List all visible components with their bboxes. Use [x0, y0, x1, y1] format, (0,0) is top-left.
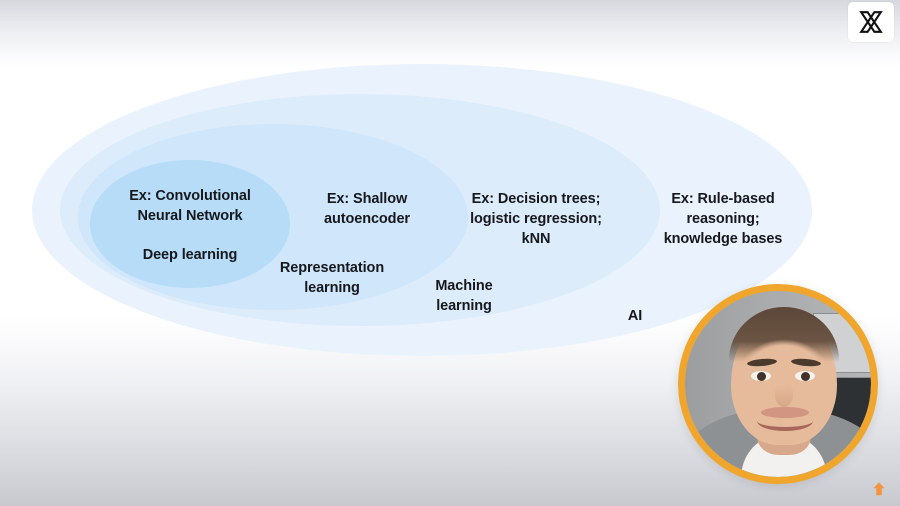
slide-canvas: Ex: Convolutional Neural Network Deep le… — [0, 0, 900, 506]
presenter-pupil-right — [801, 372, 810, 381]
presenter-webcam[interactable] — [678, 284, 878, 484]
presenter-nose — [775, 383, 793, 407]
label-representation-learning: Representation learning — [262, 258, 402, 298]
label-example-representation-learning: Ex: Shallow autoencoder — [288, 189, 446, 229]
presenter-pupil-left — [757, 372, 766, 381]
orange-arrow-icon[interactable] — [870, 480, 888, 498]
label-example-deep-learning: Ex: Convolutional Neural Network — [107, 186, 273, 226]
webcam-video — [685, 291, 871, 477]
label-example-ai: Ex: Rule-based reasoning; knowledge base… — [640, 189, 806, 249]
label-deep-learning: Deep learning — [107, 245, 273, 265]
label-example-machine-learning: Ex: Decision trees; logistic regression;… — [450, 189, 622, 249]
presenter-mouth — [757, 411, 813, 431]
logo-badge — [848, 2, 894, 42]
label-ai: AI — [605, 306, 665, 326]
x-monogram-icon — [858, 9, 884, 35]
label-machine-learning: Machine learning — [404, 276, 524, 316]
